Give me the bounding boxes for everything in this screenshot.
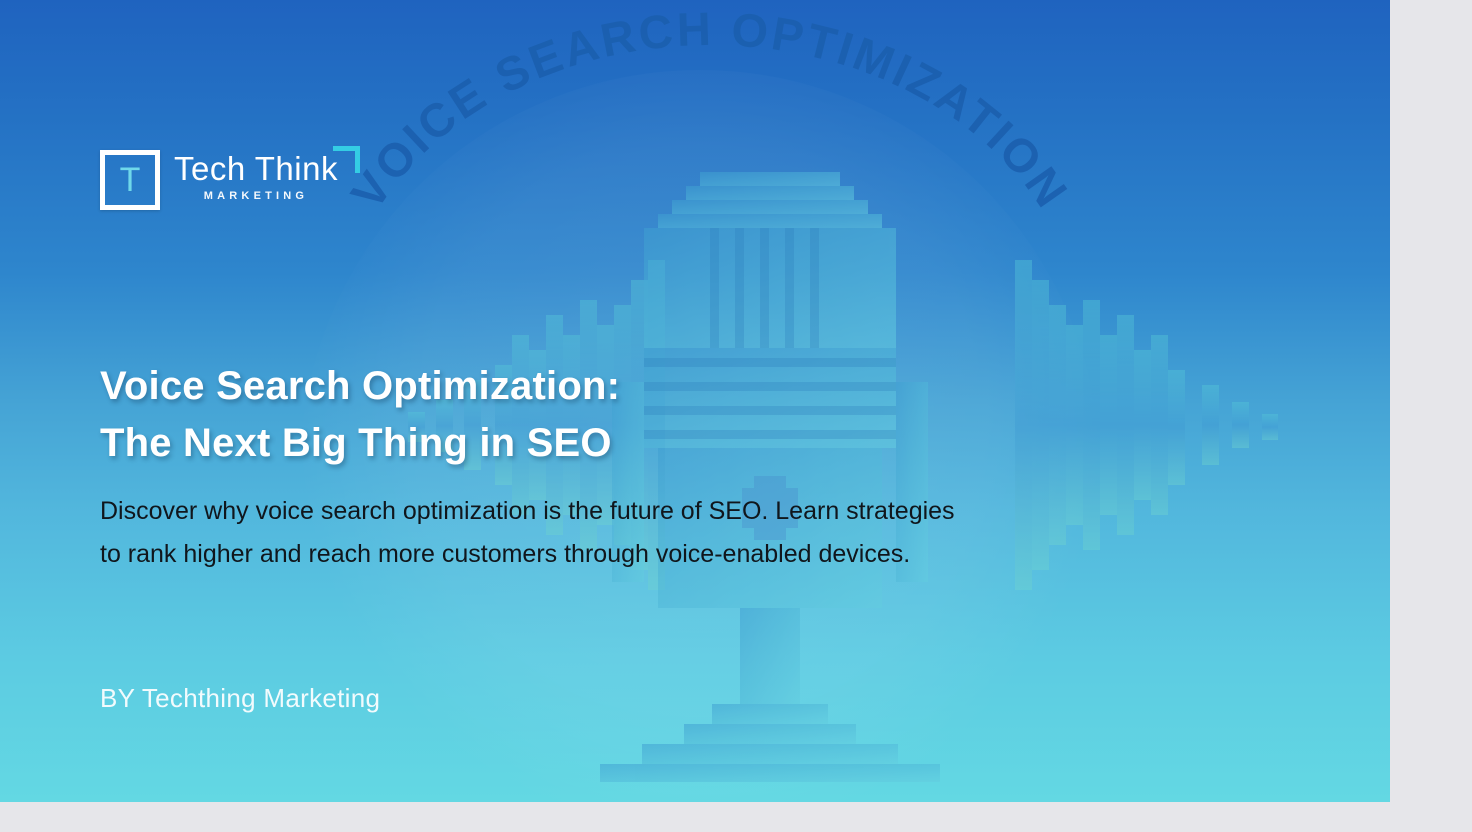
arc-headline: VOICE SEARCH OPTIMIZATION — [330, 8, 1090, 278]
page-subtitle-line-2: to rank higher and reach more customers … — [100, 533, 1120, 576]
page-title-line-1: Voice Search Optimization: — [100, 358, 920, 415]
logo-corner-accent-icon — [333, 146, 360, 173]
logo-square-icon: T — [100, 150, 160, 210]
byline: BY Techthing Marketing — [100, 683, 380, 714]
page-subtitle-line-1: Discover why voice search optimization i… — [100, 490, 1120, 533]
brand-logo[interactable]: T Tech Think MARKETING — [100, 150, 338, 212]
arc-headline-text: VOICE SEARCH OPTIMIZATION — [340, 2, 1079, 218]
logo-tagline: MARKETING — [174, 190, 338, 202]
microphone-body — [600, 172, 940, 782]
page-subtitle: Discover why voice search optimization i… — [100, 490, 1120, 575]
page-title-line-2: The Next Big Thing in SEO — [100, 415, 920, 472]
logo-letter-t: T — [105, 163, 155, 197]
microphone-illustration — [390, 150, 1290, 800]
logo-wordmark: Tech Think MARKETING — [174, 150, 338, 202]
logo-name: Tech Think — [174, 152, 338, 187]
page-title: Voice Search Optimization: The Next Big … — [100, 358, 920, 472]
promo-banner: VOICE SEARCH OPTIMIZATION T Tech Think M… — [0, 0, 1390, 802]
